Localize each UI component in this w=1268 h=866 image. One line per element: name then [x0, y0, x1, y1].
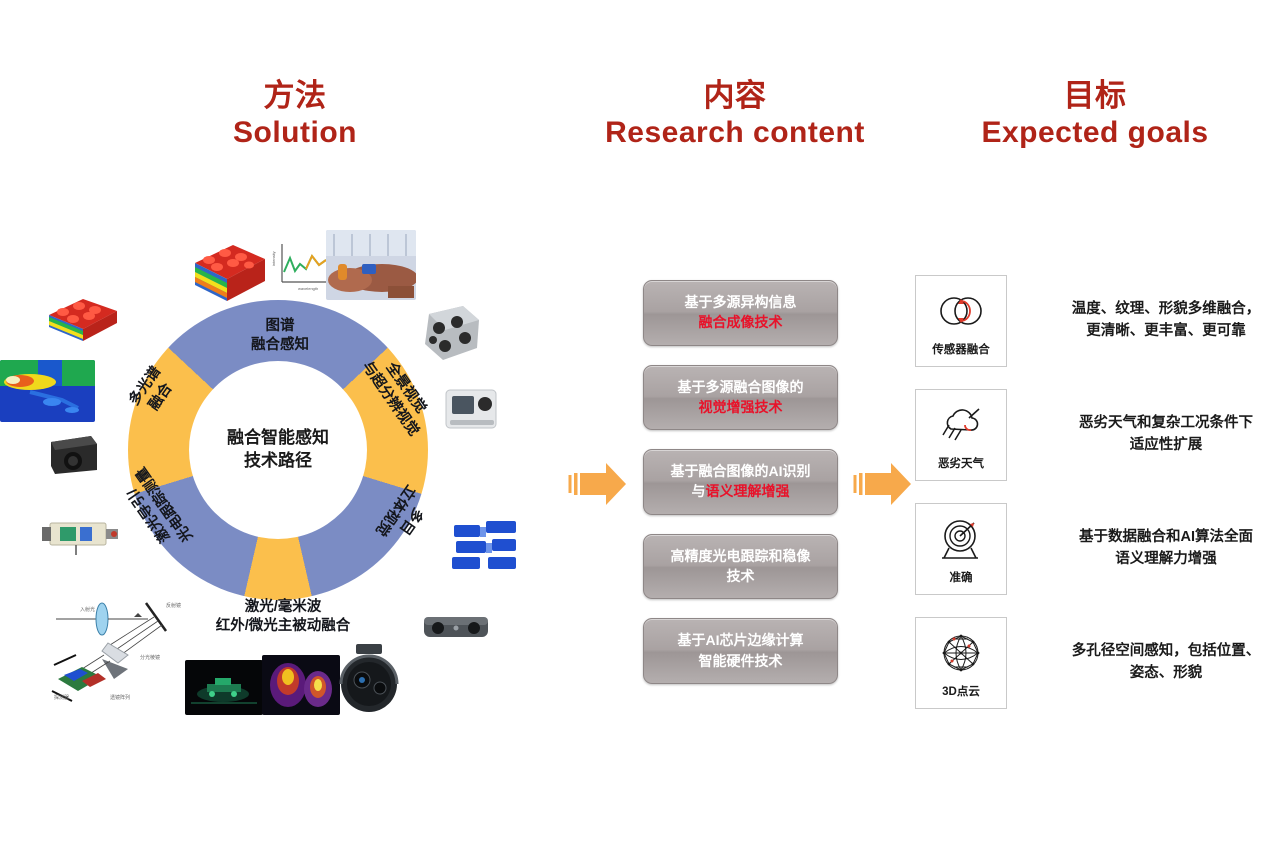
header-expected-goals: 目标 Expected goals: [930, 78, 1260, 150]
content-box-line2-plain: 技术: [727, 568, 755, 584]
stereo-camera-bar-thumbnail: [420, 605, 494, 647]
content-box-line1: 基于多源融合图像的: [678, 379, 804, 395]
svg-text:探测器: 探测器: [54, 694, 69, 701]
goal-icon-caption: 3D点云: [942, 683, 980, 699]
header-goals-cn: 目标: [930, 78, 1260, 115]
svg-text:透镜阵列: 透镜阵列: [110, 694, 130, 701]
goal-icon-caption: 准确: [950, 569, 973, 585]
sensor-fusion-icon: [933, 286, 989, 336]
thermal-image-thumbnail: [0, 360, 95, 422]
spectrum-plot-thumbnail: intensity wavelength: [272, 238, 332, 296]
content-box-line2-highlight: 融合成像技术: [699, 314, 783, 330]
instrument-photo-thumbnail: [438, 380, 508, 440]
content-box-line1: 基于多源异构信息: [685, 294, 797, 310]
header-research-content: 内容 Research content: [570, 78, 900, 150]
svg-text:分光棱镜: 分光棱镜: [140, 654, 160, 661]
svg-text:入射光: 入射光: [80, 606, 95, 613]
content-box[interactable]: 基于融合图像的AI识别 与语义理解增强: [643, 449, 838, 515]
rain-cloud-icon: [935, 400, 987, 450]
expected-goals-column: 传感器融合 温度、纹理、形貌多维融合， 更清晰、更丰富、更可靠 恶劣天气 恶: [915, 272, 1268, 728]
svg-text:wavelength: wavelength: [298, 286, 318, 291]
point-cloud-icon: [938, 628, 984, 678]
research-content-column: 基于多源异构信息 融合成像技术 基于多源融合图像的 视觉增强技术 基于融合图像的…: [643, 280, 838, 703]
laser-module-thumbnail: [40, 505, 122, 563]
goal-row: 传感器融合 温度、纹理、形貌多维融合， 更清晰、更丰富、更可靠: [915, 272, 1268, 370]
goal-text: 多孔径空间感知，包括位置、 姿态、形貌: [1041, 641, 1268, 685]
night-vision-image-thumbnail: [185, 660, 263, 715]
goal-row: 3D点云 多孔径空间感知，包括位置、 姿态、形貌: [915, 614, 1268, 712]
content-box-line1: 基于AI芯片边缘计算: [678, 632, 804, 648]
content-box-line2-highlight: 视觉增强技术: [699, 399, 783, 415]
stereo-blue-scan-thumbnail: [450, 515, 522, 573]
goal-icon-caption: 传感器融合: [932, 341, 990, 357]
goal-icon-box[interactable]: 恶劣天气: [915, 389, 1007, 481]
content-box-line1: 基于融合图像的AI识别: [671, 463, 811, 479]
hyperspectral-cube-top-thumbnail: [183, 235, 268, 310]
pipeline-photo-thumbnail: [326, 230, 416, 300]
content-box[interactable]: 高精度光电跟踪和稳像 技术: [643, 534, 838, 600]
goal-text: 恶劣天气和复杂工况条件下 适应性扩展: [1041, 413, 1268, 457]
goal-text: 温度、纹理、形貌多维融合， 更清晰、更丰富、更可靠: [1041, 299, 1268, 343]
goal-icon-box[interactable]: 传感器融合: [915, 275, 1007, 367]
arrow-content-to-goals-icon: [853, 455, 917, 513]
goal-row: 准确 基于数据融合和AI算法全面 语义理解力增强: [915, 500, 1268, 598]
header-goals-en: Expected goals: [930, 115, 1260, 150]
content-box-line1: 高精度光电跟踪和稳像: [671, 548, 811, 564]
goal-row: 恶劣天气 恶劣天气和复杂工况条件下 适应性扩展: [915, 386, 1268, 484]
wheel-segment-label-bottom[interactable]: 激光/毫米波 红外/微光主被动融合: [188, 598, 378, 635]
content-box-line2-highlight: 语义理解增强: [706, 483, 790, 499]
svg-text:intensity: intensity: [272, 251, 276, 266]
header-solution-cn: 方法: [170, 78, 420, 115]
content-box[interactable]: 基于AI芯片边缘计算 智能硬件技术: [643, 618, 838, 684]
header-content-cn: 内容: [570, 78, 900, 115]
goal-icon-box[interactable]: 3D点云: [915, 617, 1007, 709]
goal-icon-box[interactable]: 准确: [915, 503, 1007, 595]
gimbal-turret-thumbnail: [330, 640, 408, 718]
goal-text: 基于数据融合和AI算法全面 语义理解力增强: [1041, 527, 1268, 571]
camera-module-thumbnail: [45, 430, 103, 478]
target-dart-icon: [936, 514, 986, 564]
content-box-line2-plain: 与: [692, 483, 706, 499]
arrow-solution-to-content-icon: [568, 455, 632, 513]
multi-lens-camera-thumbnail: [415, 300, 487, 368]
content-box-line2-plain: 智能硬件技术: [699, 653, 783, 669]
wheel-segment-label-top[interactable]: 图谱 融合感知: [205, 317, 355, 354]
header-solution: 方法 Solution: [170, 78, 420, 150]
optical-diagram-thumbnail: 入射光 反射镜 分光棱镜 探测器 透镜阵列: [48, 585, 198, 705]
donut-center-label: 融合智能感知 技术路径: [193, 427, 363, 473]
solution-wheel-area: intensity wavelength: [0, 205, 560, 745]
header-solution-en: Solution: [170, 115, 420, 150]
thermal-color-image-thumbnail: [262, 655, 340, 715]
goal-icon-caption: 恶劣天气: [938, 455, 984, 471]
hyperspectral-cube-left-thumbnail: [45, 295, 123, 353]
header-content-en: Research content: [570, 115, 900, 150]
content-box[interactable]: 基于多源融合图像的 视觉增强技术: [643, 365, 838, 431]
svg-text:反射镜: 反射镜: [166, 602, 181, 609]
content-box[interactable]: 基于多源异构信息 融合成像技术: [643, 280, 838, 346]
